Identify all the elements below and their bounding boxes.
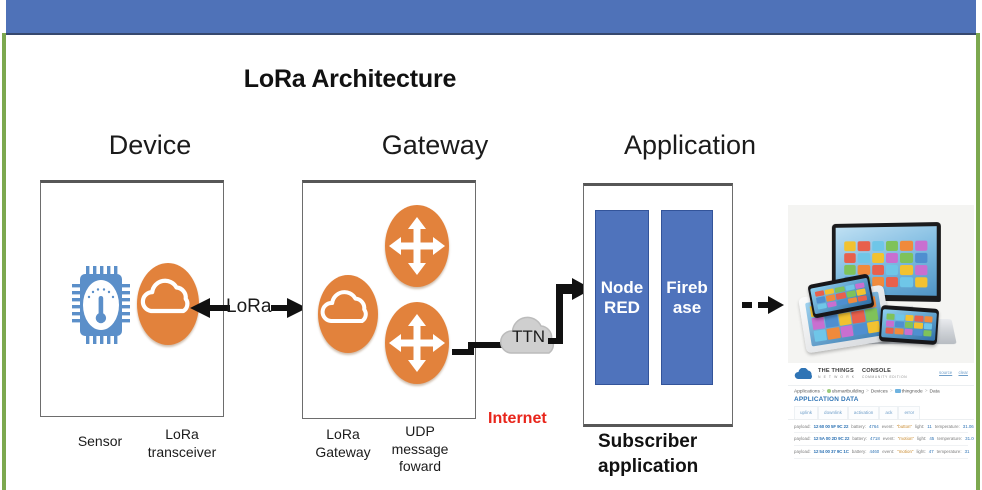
app-block-node-red[interactable]: Node RED [595,210,649,385]
console-brand-name: THE THINGS [818,368,854,374]
row0-temperature-value: 31.06 [963,424,974,429]
breadcrumb-devices[interactable]: Devices [871,389,888,394]
ttn-label: TTN [512,327,545,347]
column-title-device: Device [40,130,260,161]
row0-battery-value: 4764 [869,424,879,429]
table-row[interactable]: payload: 12 5A 00 2D 9C 22 battery: 4718… [794,433,968,446]
row1-event-key: event: [883,436,895,441]
sensor-chip-icon [72,266,130,344]
multi-device-photo [788,205,974,363]
console-link-clear[interactable]: clear [958,370,968,375]
internet-label: Internet [488,410,547,428]
column-title-application: Application [580,130,800,161]
tab-activation[interactable]: activation [848,406,879,419]
console-tabs[interactable]: uplink downlink activation ack error [788,406,974,420]
tab-downlink[interactable]: downlink [818,406,848,419]
page-title: LoRa Architecture [0,65,700,94]
row0-event-key: event: [882,424,894,429]
row2-battery-key: battery: [852,449,867,454]
column-title-gateway: Gateway [300,130,570,161]
slide-left-edge [2,33,6,490]
row0-light-key: light: [915,424,924,429]
smartphone-screen-1 [810,278,872,315]
udp-forwarder-arrow-icon-1 [385,205,449,287]
row2-temperature-value: 31 [965,449,970,454]
smartphone-app-grid-1 [815,282,868,309]
row2-battery-value: 4460 [869,449,879,454]
smartphone-device-2 [879,305,939,345]
breadcrumb-app-icon [827,389,831,393]
breadcrumb-device-name[interactable]: thingnode [902,389,923,394]
row0-event-value: "button" [897,424,912,429]
row0-battery-key: battery: [851,424,866,429]
row1-battery-value: 4718 [870,436,880,441]
app-block-firebase[interactable]: Firebase [661,210,713,385]
row1-payload-value: 12 5A 00 2D 9C 22 [814,436,850,441]
breadcrumb-applications[interactable]: Applications [794,389,820,394]
subscriber-app-screenshot[interactable]: THE THINGS N E T W O R K CONSOLE COMMUNI… [788,205,974,490]
gateway-cloud-icon [318,275,378,353]
slide-top-band [6,0,976,35]
row0-payload-value: 12 60 00 5F 9C 22 [814,424,849,429]
table-row[interactable]: payload: 12 54 00 37 9C 1C battery: 4460… [794,446,968,459]
data-rows: payload: 12 60 00 5F 9C 22 battery: 4764… [788,420,974,458]
row2-light-key: light: [916,449,925,454]
caption-subscriber-application: Subscriberapplication [598,430,778,479]
tab-uplink[interactable]: uplink [794,406,818,419]
breadcrumb-device-icon [895,389,901,393]
row2-event-key: event: [882,449,894,454]
row1-event-value: "motion" [898,436,914,441]
ttn-logo-cloud-icon [794,368,816,381]
table-row[interactable]: payload: 12 60 00 5F 9C 22 battery: 4764… [794,420,968,433]
row1-temperature-value: 31.06 [965,436,974,441]
row1-light-value: 45 [929,436,934,441]
breadcrumb-application-name[interactable]: ulsmartbuilding [832,389,864,394]
row1-temperature-key: temperature: [937,436,962,441]
row0-payload-key: payload: [794,424,811,429]
smartphone-app-grid-2 [885,313,932,336]
row2-temperature-key: temperature: [937,449,962,454]
section-title: APPLICATION DATA [788,395,974,406]
ttn-console-panel[interactable]: THE THINGS N E T W O R K CONSOLE COMMUNI… [788,363,974,490]
console-link-source[interactable]: source [939,370,952,375]
row1-battery-key: battery: [852,436,867,441]
console-edition: COMMUNITY EDITION [862,375,907,379]
console-brand-sub: N E T W O R K [818,375,855,379]
row2-payload-value: 12 54 00 37 9C 1C [814,449,849,454]
application-to-screenshot-arrow [742,294,786,316]
smartphone-screen-2 [881,309,937,341]
breadcrumb[interactable]: Applications>ulsmartbuilding>Devices>thi… [788,386,974,395]
tab-ack[interactable]: ack [879,406,898,419]
row1-payload-key: payload: [794,436,811,441]
caption-udp-message-forward: UDPmessagefoward [382,423,458,476]
caption-lora-transceiver: LoRatransceiver [136,426,228,461]
tab-error[interactable]: error [898,406,920,419]
caption-lora-gateway: LoRaGateway [303,426,383,461]
row1-light-key: light: [917,436,926,441]
row0-light-value: 11 [927,424,932,429]
caption-sensor: Sensor [58,433,142,451]
row2-payload-key: payload: [794,449,811,454]
row0-temperature-key: temperature: [935,424,960,429]
udp-forwarder-arrow-icon-2 [385,302,449,384]
console-word: CONSOLE [862,368,891,374]
row2-event-value: "motion" [897,449,913,454]
slide-right-edge [976,33,980,490]
breadcrumb-data[interactable]: Data [930,389,940,394]
slide-canvas: LoRa Architecture Device Gateway Applica… [0,0,982,490]
lora-link-label: LoRa [226,296,271,318]
row2-light-value: 47 [929,449,934,454]
console-header-links[interactable]: source clear [934,370,968,375]
console-header: THE THINGS N E T W O R K CONSOLE COMMUNI… [788,363,974,386]
